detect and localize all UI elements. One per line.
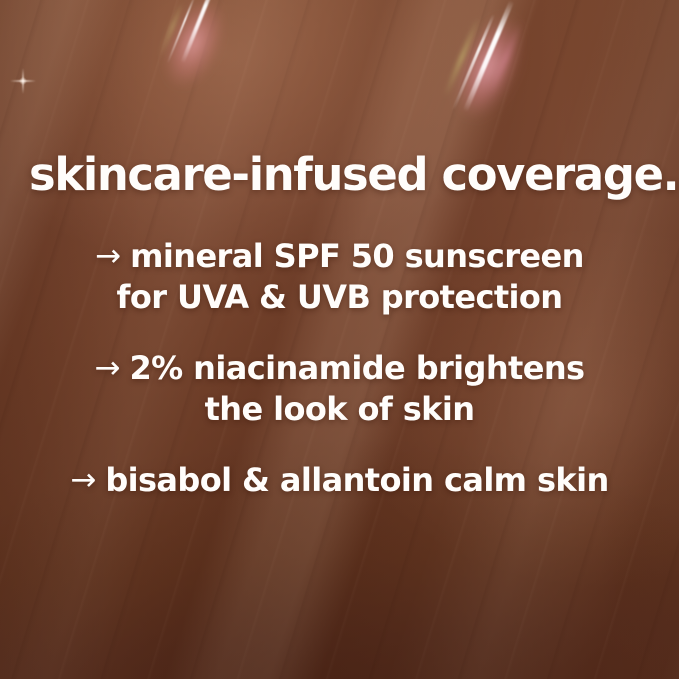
benefit-line: the look of skin (0, 389, 679, 430)
arrow-right-icon: → (95, 237, 121, 276)
benefit-item-sunscreen: →mineral SPF 50 sunscreen for UVA & UVB … (0, 236, 679, 318)
benefit-line: →bisabol & allantoin calm skin (0, 460, 679, 501)
arrow-right-icon: → (95, 349, 121, 388)
benefit-line: for UVA & UVB protection (0, 277, 679, 318)
benefit-line-text: 2% niacinamide brightens (130, 349, 585, 387)
benefit-item-bisabol: →bisabol & allantoin calm skin (0, 460, 679, 501)
benefit-line: →mineral SPF 50 sunscreen (0, 236, 679, 277)
content-layer: skincare-infused coverage. →mineral SPF … (0, 0, 679, 679)
benefit-line: →2% niacinamide brightens (0, 348, 679, 389)
marketing-graphic-canvas: skincare-infused coverage. →mineral SPF … (0, 0, 679, 679)
arrow-right-icon: → (70, 461, 96, 500)
benefit-item-niacinamide: →2% niacinamide brightens the look of sk… (0, 348, 679, 430)
benefits-list: →mineral SPF 50 sunscreen for UVA & UVB … (0, 236, 679, 501)
headline: skincare-infused coverage. (29, 152, 678, 198)
benefit-line-text: bisabol & allantoin calm skin (105, 461, 608, 499)
benefit-line-text: mineral SPF 50 sunscreen (130, 237, 584, 275)
